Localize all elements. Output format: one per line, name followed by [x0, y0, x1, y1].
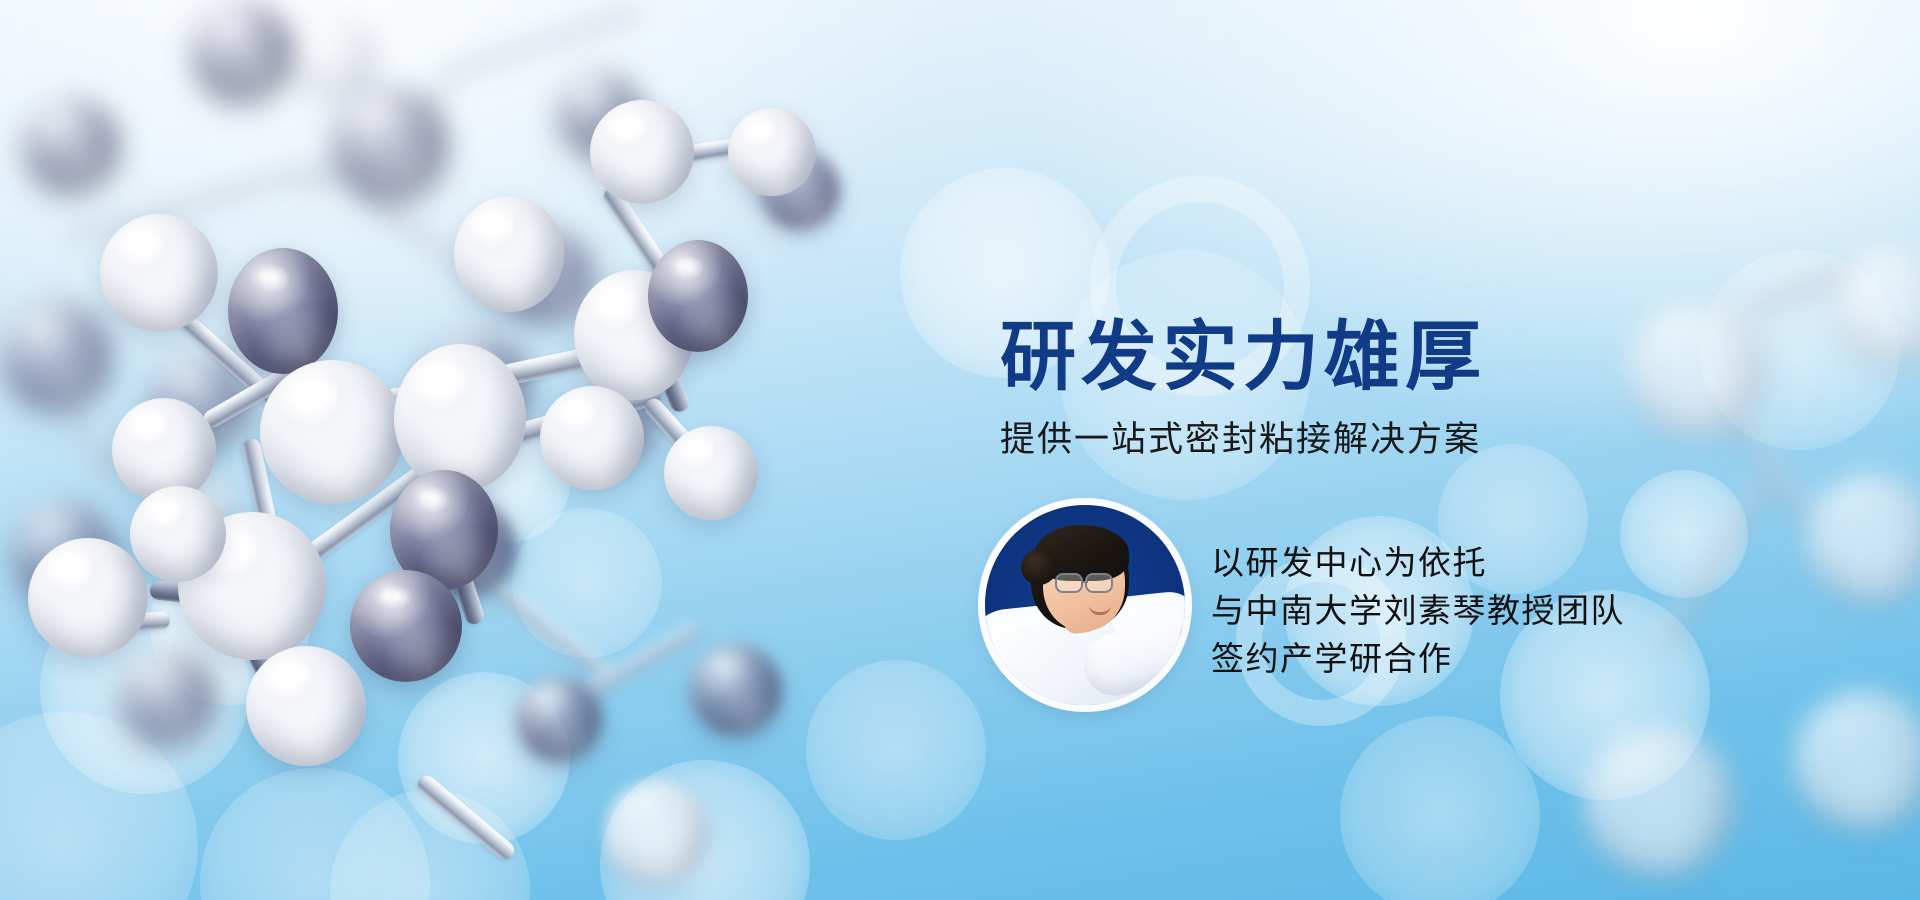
molecule-bond: [284, 332, 387, 477]
molecule-atom: [1794, 690, 1920, 830]
banner-headline: 研发实力雄厚: [1000, 318, 1700, 397]
molecule-atom: [294, 16, 374, 96]
bokeh-circle: [600, 760, 810, 900]
molecule-atom: [760, 150, 840, 230]
molecule-bond: [641, 395, 728, 489]
molecule-atom: [728, 108, 816, 196]
molecule-bond: [162, 298, 315, 438]
molecule-atom: [130, 486, 226, 582]
molecule-atom: [390, 470, 498, 590]
bokeh-circle: [40, 584, 250, 794]
molecule-bond: [338, 338, 636, 421]
molecule-bond: [438, 1, 642, 79]
molecule-atom: [28, 538, 148, 658]
molecule-atom: [664, 426, 758, 520]
researcher-section: 以研发中心为依托 与中南大学刘素琴教授团队 签约产学研合作: [985, 505, 1745, 745]
molecule-atom: [690, 644, 782, 736]
hero-banner: 研发实力雄厚 提供一站式密封粘接解决方案 以研发中心为依托 与中南大学刘素琴教授…: [0, 0, 1920, 900]
molecule-bond: [1745, 244, 1890, 315]
molecule-bond: [231, 615, 314, 758]
molecule-bond: [465, 562, 617, 685]
molecule-atom: [604, 780, 708, 884]
molecule-bond: [149, 580, 290, 614]
bullet-line: 与中南大学刘素琴教授团队: [1211, 587, 1625, 635]
molecule-bond: [346, 59, 437, 194]
molecule-bond: [241, 437, 290, 587]
molecule-bond: [284, 438, 465, 577]
eyeglasses-right: [1085, 573, 1113, 593]
molecule-atom: [590, 100, 694, 204]
molecule-atom: [190, 0, 294, 104]
molecule-bond: [96, 361, 223, 464]
bokeh-circle: [0, 712, 198, 900]
bokeh-circle: [330, 790, 530, 900]
molecule-atom: [516, 676, 602, 762]
molecule-bond: [34, 340, 121, 488]
bokeh-circle: [200, 768, 430, 900]
molecule-atom: [112, 398, 216, 502]
molecule-bond: [1694, 363, 1819, 526]
molecule-atom: [228, 248, 338, 374]
molecule-bond: [556, 621, 703, 715]
molecule-atom: [540, 386, 644, 490]
molecule-atom: [0, 300, 112, 412]
molecule-bond: [659, 130, 790, 167]
bullet-line: 以研发中心为依托: [1211, 539, 1625, 587]
molecule-bond: [68, 159, 312, 242]
molecule-atom: [10, 500, 116, 606]
molecule-atom: [246, 646, 366, 766]
researcher-avatar: [985, 505, 1185, 705]
molecule-bond: [414, 772, 517, 863]
molecule-atom: [120, 650, 216, 746]
molecule-atom: [1806, 472, 1920, 602]
molecule-bond: [417, 383, 663, 471]
molecule-atom: [260, 360, 404, 504]
molecule-bond: [296, 81, 454, 194]
molecule-bond: [376, 197, 546, 326]
molecule-atom: [1836, 246, 1920, 364]
molecule-atom: [350, 570, 462, 682]
molecule-atom: [22, 96, 120, 194]
molecule-bond: [201, 355, 314, 431]
molecule-atom: [498, 228, 594, 324]
eyeglasses-left: [1055, 573, 1083, 593]
hair-bun: [1021, 549, 1057, 585]
bokeh-circle: [150, 545, 310, 705]
molecule-atom: [648, 240, 748, 352]
molecule-atom: [454, 196, 564, 312]
molecule-atom: [1584, 726, 1734, 876]
molecule-bond: [631, 306, 691, 415]
banner-bullet-list: 以研发中心为依托 与中南大学刘素琴教授团队 签约产学研合作: [1211, 539, 1625, 684]
bokeh-circle: [806, 660, 986, 840]
molecule-bond: [39, 611, 170, 638]
molecule-bond: [431, 507, 486, 627]
banner-copy: 研发实力雄厚 提供一站式密封粘接解决方案: [1000, 318, 1700, 462]
molecule-bond: [601, 184, 683, 294]
molecule-atom: [178, 512, 326, 660]
bokeh-circle: [398, 672, 570, 844]
banner-subheadline: 提供一站式密封粘接解决方案: [1000, 411, 1700, 462]
bokeh-circle: [512, 508, 662, 658]
molecule-atom: [394, 344, 526, 492]
molecule-atom: [420, 500, 516, 596]
eyeglasses-bridge: [1082, 581, 1088, 583]
bullet-line: 签约产学研合作: [1211, 635, 1625, 683]
molecule-atom: [574, 270, 694, 400]
bokeh-circle: [452, 424, 570, 542]
molecule-atom: [420, 330, 530, 440]
molecule-atom: [100, 214, 218, 332]
molecule-atom: [150, 352, 250, 452]
molecule-atom: [556, 70, 642, 156]
molecule-atom: [152, 468, 242, 558]
molecule-atom: [566, 372, 658, 464]
bokeh-circle: [1700, 250, 1900, 450]
molecule-atom: [330, 86, 448, 204]
